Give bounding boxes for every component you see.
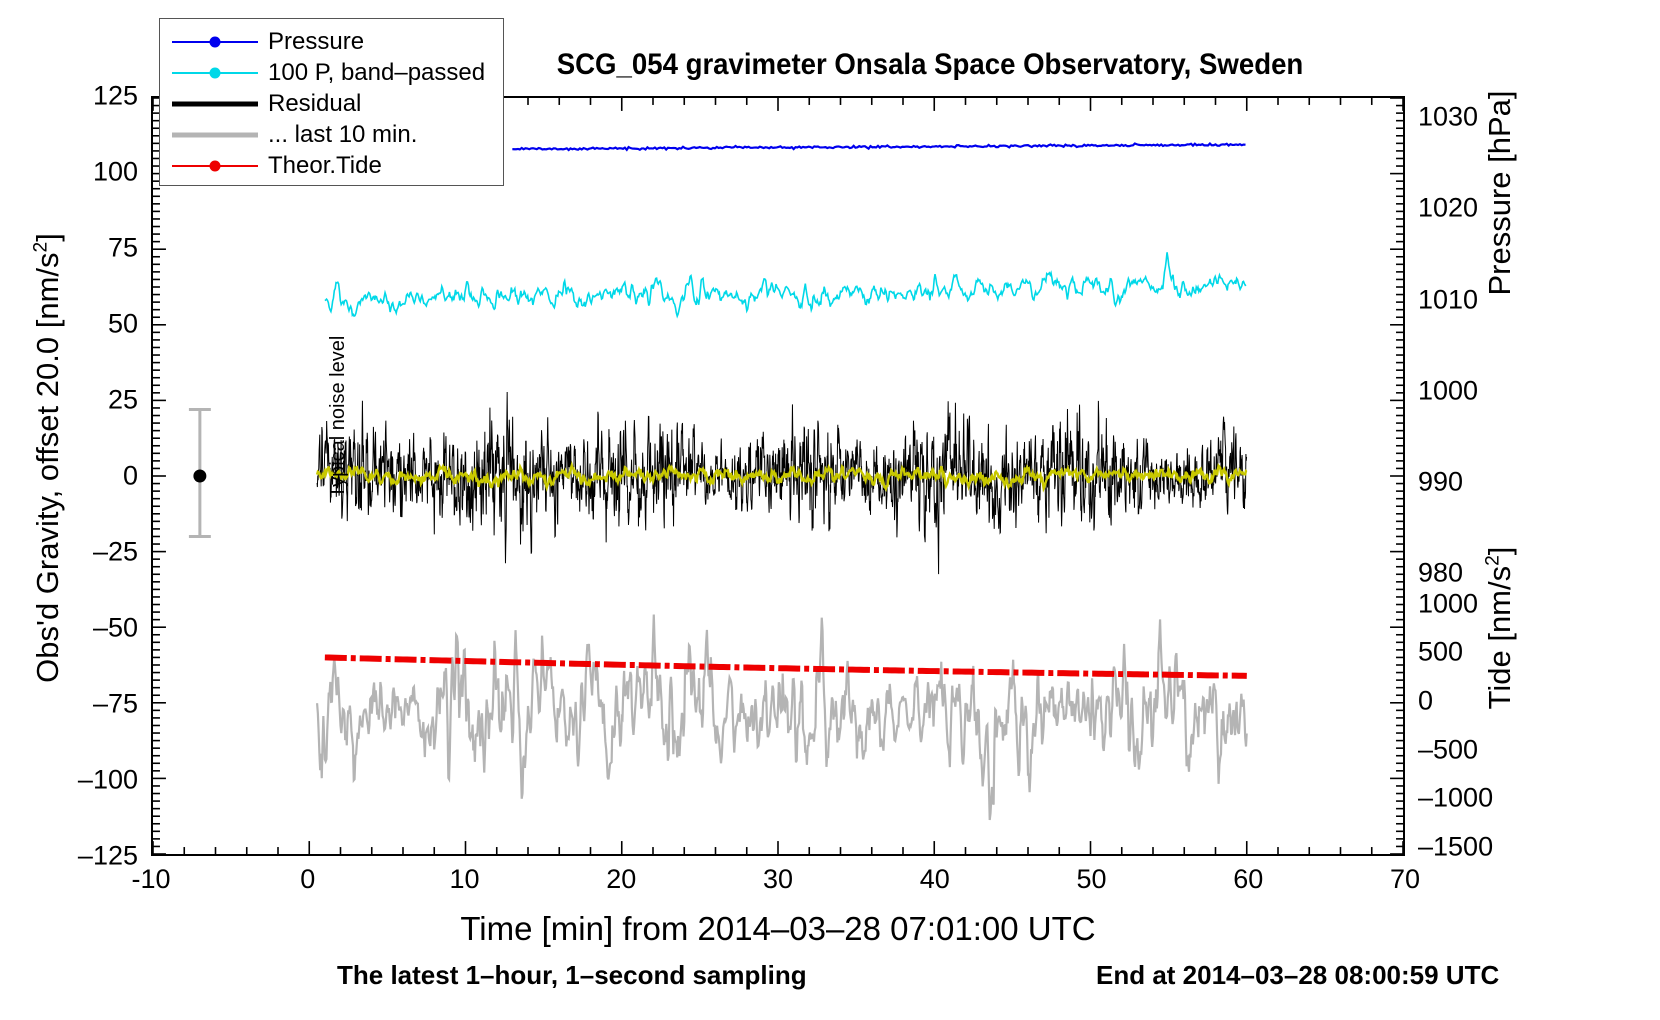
legend[interactable]: Pressure 100 P, band–passed Residual ...…: [159, 18, 504, 186]
y-axis-left-ticks: 1251007550250–25–50–75–100–125: [0, 96, 138, 856]
y-tick-label: –125: [78, 843, 138, 870]
y-axis-left-title-close: ]: [30, 233, 65, 242]
y-axis-pressure-title: Pressure [hPa]: [1482, 0, 1518, 393]
x-tick-label: 30: [763, 866, 793, 893]
x-axis-title: Time [min] from 2014–03–28 07:01:00 UTC: [151, 910, 1405, 948]
annotation-end-note: End at 2014–03–28 08:00:59 UTC: [1096, 960, 1499, 991]
y-axis-left-title: Obs'd Gravity, offset 20.0 [nm/s2]: [30, 58, 66, 858]
pressure-tick-label: 1030: [1418, 104, 1478, 131]
legend-item-bandpassed[interactable]: 100 P, band–passed: [160, 57, 503, 88]
y-axis-tide-title-sup: 2: [1483, 555, 1504, 566]
annotation-noise-level: Typical noise level: [327, 318, 350, 498]
plot-area[interactable]: The latest 1–hour, 1–second sampling End…: [151, 96, 1405, 856]
legend-item-residual[interactable]: Residual: [160, 88, 503, 119]
y-axis-left-title-sup: 2: [31, 242, 52, 253]
series-bandpassed: [325, 252, 1246, 316]
y-tick-label: 125: [93, 83, 138, 110]
legend-label-residual: Residual: [258, 90, 361, 118]
pressure-tick-label: 990: [1418, 469, 1463, 496]
y-axis-tide-title-close: ]: [1482, 547, 1517, 556]
y-tick-label: 100: [93, 159, 138, 186]
x-axis-ticks: -10010203040506070: [151, 866, 1405, 906]
tide-tick-label: 1000: [1418, 590, 1478, 617]
tide-tick-label: –500: [1418, 736, 1478, 763]
y-tick-label: –25: [93, 539, 138, 566]
y-tick-label: 50: [108, 311, 138, 338]
legend-swatch-residual: [172, 94, 258, 114]
x-tick-label: 60: [1233, 866, 1263, 893]
y-tick-label: –100: [78, 767, 138, 794]
series-last10min: [317, 615, 1247, 820]
y-tick-label: 0: [123, 463, 138, 490]
legend-label-last10min: ... last 10 min.: [258, 121, 417, 149]
y-tick-label: 75: [108, 235, 138, 262]
x-tick-label: -10: [131, 866, 170, 893]
annotation-latest-note: The latest 1–hour, 1–second sampling: [337, 960, 807, 991]
legend-swatch-theortide: [172, 156, 258, 176]
x-tick-label: 40: [920, 866, 950, 893]
legend-label-bandpassed: 100 P, band–passed: [258, 59, 485, 87]
legend-item-theortide[interactable]: Theor.Tide: [160, 150, 503, 181]
legend-swatch-bandpassed: [172, 63, 258, 83]
legend-label-theortide: Theor.Tide: [258, 152, 382, 180]
tide-tick-label: 500: [1418, 639, 1463, 666]
y-tick-label: 25: [108, 387, 138, 414]
y-tick-label: –75: [93, 691, 138, 718]
x-tick-label: 20: [606, 866, 636, 893]
pressure-tick-label: 1000: [1418, 377, 1478, 404]
tide-tick-label: –1500: [1418, 833, 1493, 860]
y-tick-label: –50: [93, 615, 138, 642]
pressure-tick-label: 980: [1418, 560, 1463, 587]
x-tick-label: 70: [1390, 866, 1420, 893]
tide-tick-label: 0: [1418, 687, 1433, 714]
pressure-tick-label: 1020: [1418, 195, 1478, 222]
series-pressure: [512, 144, 1245, 150]
page-title: SCG_054 gravimeter Onsala Space Observat…: [470, 48, 1390, 82]
x-tick-label: 0: [300, 866, 315, 893]
x-tick-label: 10: [449, 866, 479, 893]
x-tick-label: 50: [1076, 866, 1106, 893]
legend-swatch-pressure: [172, 32, 258, 52]
legend-label-pressure: Pressure: [258, 28, 364, 56]
legend-swatch-last10min: [172, 125, 258, 145]
noise-level-errorbar: [189, 409, 211, 536]
legend-item-pressure[interactable]: Pressure: [160, 26, 503, 57]
y-axis-tide-title: Tide [nm/s2]: [1482, 438, 1518, 818]
y-axis-left-title-text: Obs'd Gravity, offset 20.0 [nm/s: [30, 252, 65, 682]
legend-item-last10min[interactable]: ... last 10 min.: [160, 119, 503, 150]
pressure-tick-label: 1010: [1418, 286, 1478, 313]
y-axis-tide-title-text: Tide [nm/s: [1482, 566, 1517, 710]
